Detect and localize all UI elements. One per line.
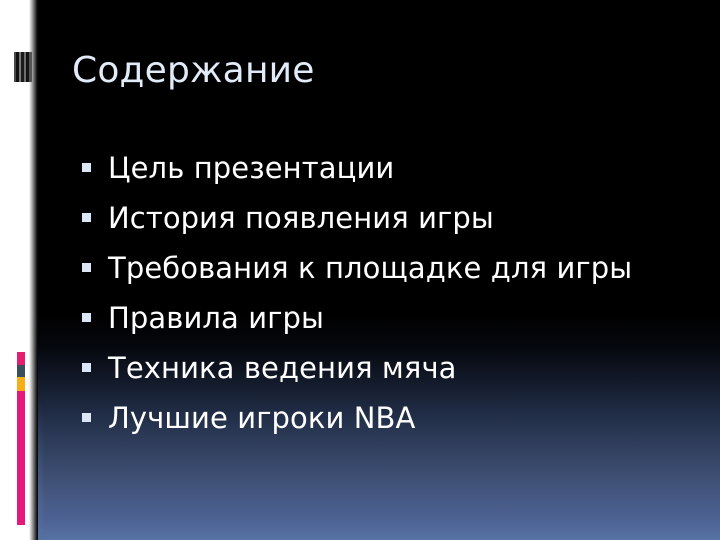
list-item-label: Техника ведения мяча [108, 351, 457, 385]
bullet-square-icon [82, 313, 91, 322]
stripes-mark-icon [14, 52, 32, 82]
bullet-square-icon [82, 163, 91, 172]
bullet-square-icon [82, 213, 91, 222]
color-bar-segment-slate [17, 365, 25, 377]
list-item: Техника ведения мяча [76, 345, 696, 391]
slide-title: Содержание [72, 50, 672, 92]
bullet-square-icon [82, 413, 91, 422]
slide-bullet-list: Цель презентации История появления игры … [76, 145, 696, 445]
list-item: История появления игры [76, 195, 696, 241]
presentation-slide: Содержание Цель презентации История появ… [0, 0, 720, 540]
bullet-square-icon [82, 263, 91, 272]
list-item: Лучшие игроки NBA [76, 395, 696, 441]
bullet-square-icon [82, 363, 91, 372]
color-bar-segment-magenta [17, 391, 25, 525]
list-item: Требования к площадке для игры [76, 245, 696, 291]
list-item-label: История появления игры [108, 201, 494, 235]
color-bar-segment-orange [17, 377, 25, 391]
list-item: Цель презентации [76, 145, 696, 191]
list-item-label: Лучшие игроки NBA [108, 401, 416, 435]
list-item-label: Цель презентации [108, 151, 394, 185]
list-item-label: Правила игры [108, 301, 324, 335]
list-item: Правила игры [76, 295, 696, 341]
list-item-label: Требования к площадке для игры [108, 251, 632, 285]
color-bar-segment-pink-cap [17, 352, 25, 365]
